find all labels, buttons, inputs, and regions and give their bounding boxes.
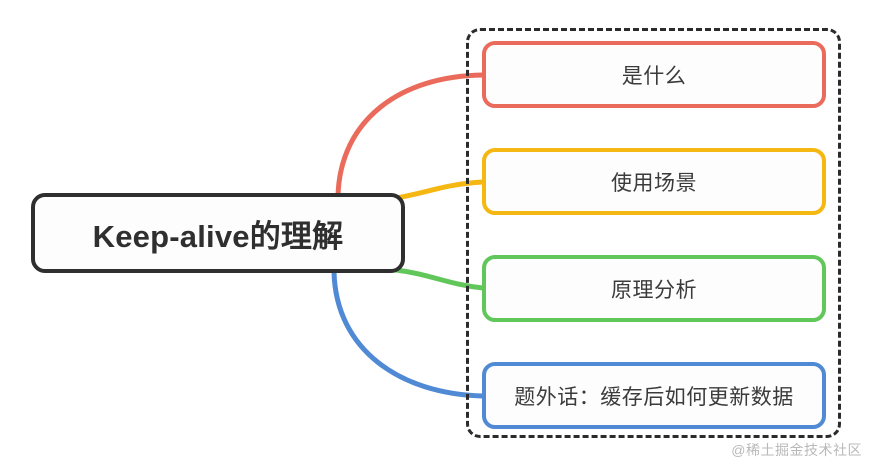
child-node-0-label: 是什么 xyxy=(622,60,687,90)
child-node-3-label: 题外话：缓存后如何更新数据 xyxy=(514,381,794,411)
watermark: @稀土掘金技术社区 xyxy=(731,440,862,460)
root-node[interactable]: Keep-alive的理解 xyxy=(31,193,405,273)
child-node-2[interactable]: 原理分析 xyxy=(482,255,826,322)
child-node-1-label: 使用场景 xyxy=(611,167,697,197)
root-node-label: Keep-alive的理解 xyxy=(93,211,344,256)
child-node-1[interactable]: 使用场景 xyxy=(482,148,826,215)
child-node-2-label: 原理分析 xyxy=(611,274,697,304)
edge-to-child-0 xyxy=(338,75,483,196)
edge-to-child-3 xyxy=(334,272,483,396)
child-node-0[interactable]: 是什么 xyxy=(482,41,826,108)
child-node-3[interactable]: 题外话：缓存后如何更新数据 xyxy=(482,362,826,429)
mindmap-canvas: Keep-alive的理解 是什么 使用场景 原理分析 题外话：缓存后如何更新数… xyxy=(0,0,874,468)
